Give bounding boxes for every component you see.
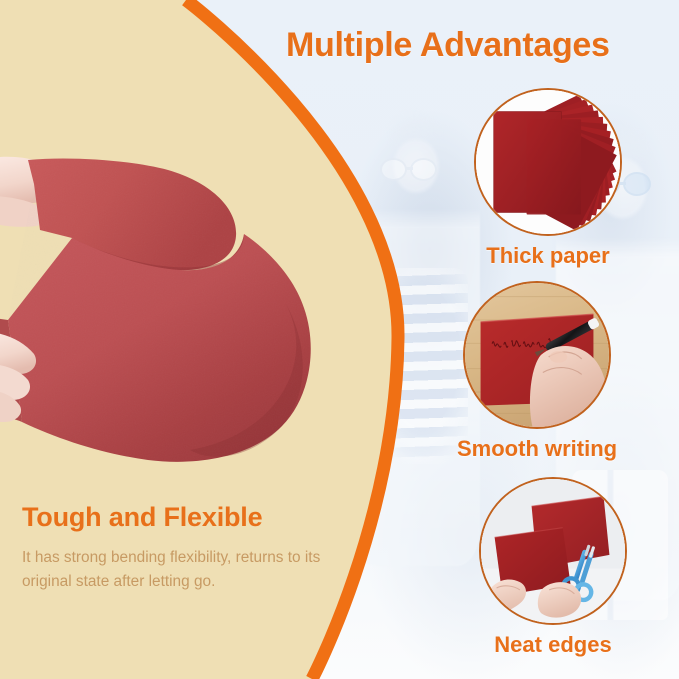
- feature-smooth-writing-image: [463, 281, 611, 429]
- feature-neat-edges: Neat edges: [479, 477, 627, 658]
- sunglasses-icon-left: [380, 158, 454, 182]
- promo-banner: Multiple Advantages Tough and Flexible I…: [0, 0, 679, 679]
- feature-smooth-writing-label: Smooth writing: [457, 436, 605, 462]
- feature-thick-paper: Thick paper: [474, 88, 622, 269]
- feature-thick-paper-image: [474, 88, 622, 236]
- left-panel-title: Tough and Flexible: [22, 503, 352, 533]
- cut-cards-scissors-art: [481, 479, 625, 623]
- stacked-sheets-art: [476, 90, 620, 234]
- feature-neat-edges-image: [479, 477, 627, 625]
- hero-bending-sheet-image: [0, 150, 340, 490]
- writing-on-card-art: [465, 283, 609, 427]
- left-panel-body: It has strong bending flexibility, retur…: [22, 546, 352, 594]
- page-title: Multiple Advantages: [286, 26, 610, 65]
- feature-neat-edges-label: Neat edges: [479, 632, 627, 658]
- left-text-block: Tough and Flexible It has strong bending…: [22, 503, 352, 593]
- feature-smooth-writing: Smooth writing: [463, 281, 611, 462]
- feature-thick-paper-label: Thick paper: [474, 243, 622, 269]
